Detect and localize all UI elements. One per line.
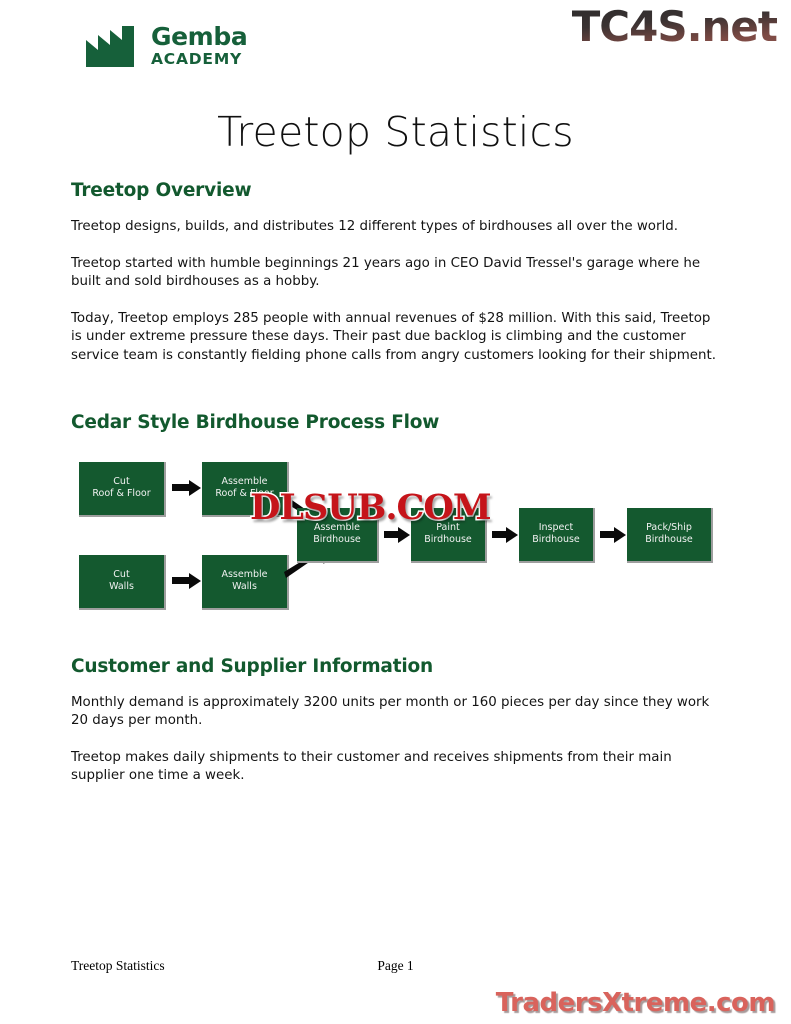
flow-arrow-cut-roof-to-assemble-roof (172, 481, 201, 495)
document-page: Gemba ACADEMY TC4S.net Treetop Statistic… (0, 0, 791, 1024)
flow-arrow-paint-to-inspect (492, 528, 518, 542)
paragraph-overview-3: Today, Treetop employs 285 people with a… (71, 310, 721, 366)
flow-arrow-assemble-to-paint (384, 528, 410, 542)
flow-box-line1: Assemble (221, 569, 267, 582)
flow-arrow-cut-walls-to-assemble-walls (172, 574, 201, 588)
flow-box-line2: Birdhouse (313, 534, 361, 547)
page-title: Treetop Statistics (0, 108, 791, 156)
process-flow-diagram: Cut Roof & Floor Assemble Roof & Floor C… (71, 450, 721, 630)
flow-box-line2: Walls (221, 581, 267, 594)
flow-box-inspect-birdhouse: Inspect Birdhouse (519, 508, 595, 563)
logo-name: Gemba (151, 24, 247, 49)
watermark-dlsub: DLSUB.COM (250, 487, 491, 528)
flow-box-line2: Birdhouse (424, 534, 472, 547)
flow-box-line1: Pack/Ship (645, 522, 693, 535)
paragraph-overview-1: Treetop designs, builds, and distributes… (71, 218, 721, 237)
flow-arrow-inspect-to-packship (600, 528, 626, 542)
factory-icon (86, 26, 142, 67)
flow-box-line1: Inspect (532, 522, 580, 535)
flow-box-line2: Birdhouse (532, 534, 580, 547)
gemba-academy-logo: Gemba ACADEMY (86, 24, 247, 68)
section-spacer (71, 384, 721, 412)
paragraph-overview-2: Treetop started with humble beginnings 2… (71, 255, 721, 292)
logo-subtitle: ACADEMY (151, 52, 247, 68)
flow-box-cut-walls: Cut Walls (79, 555, 166, 610)
section-heading-overview: Treetop Overview (71, 180, 721, 201)
flow-box-line1: Cut (109, 569, 134, 582)
watermark-tc4s: TC4S.net (572, 2, 777, 51)
watermark-tradersxtreme: TradersXtreme.com (496, 988, 775, 1018)
section-heading-process-flow: Cedar Style Birdhouse Process Flow (71, 412, 721, 433)
section-heading-customer-supplier: Customer and Supplier Information (71, 656, 721, 677)
section-spacer (71, 630, 721, 656)
flow-box-line2: Roof & Floor (92, 488, 150, 501)
flow-box-cut-roof-floor: Cut Roof & Floor (79, 462, 166, 517)
flow-box-assemble-walls: Assemble Walls (202, 555, 289, 610)
footer-page-number: Page 1 (71, 958, 720, 974)
flow-box-line2: Birdhouse (645, 534, 693, 547)
paragraph-customer-1: Monthly demand is approximately 3200 uni… (71, 694, 721, 731)
paragraph-customer-2: Treetop makes daily shipments to their c… (71, 749, 721, 786)
flow-box-line2: Walls (109, 581, 134, 594)
flow-box-line1: Cut (92, 476, 150, 489)
flow-box-packship-birdhouse: Pack/Ship Birdhouse (627, 508, 713, 563)
